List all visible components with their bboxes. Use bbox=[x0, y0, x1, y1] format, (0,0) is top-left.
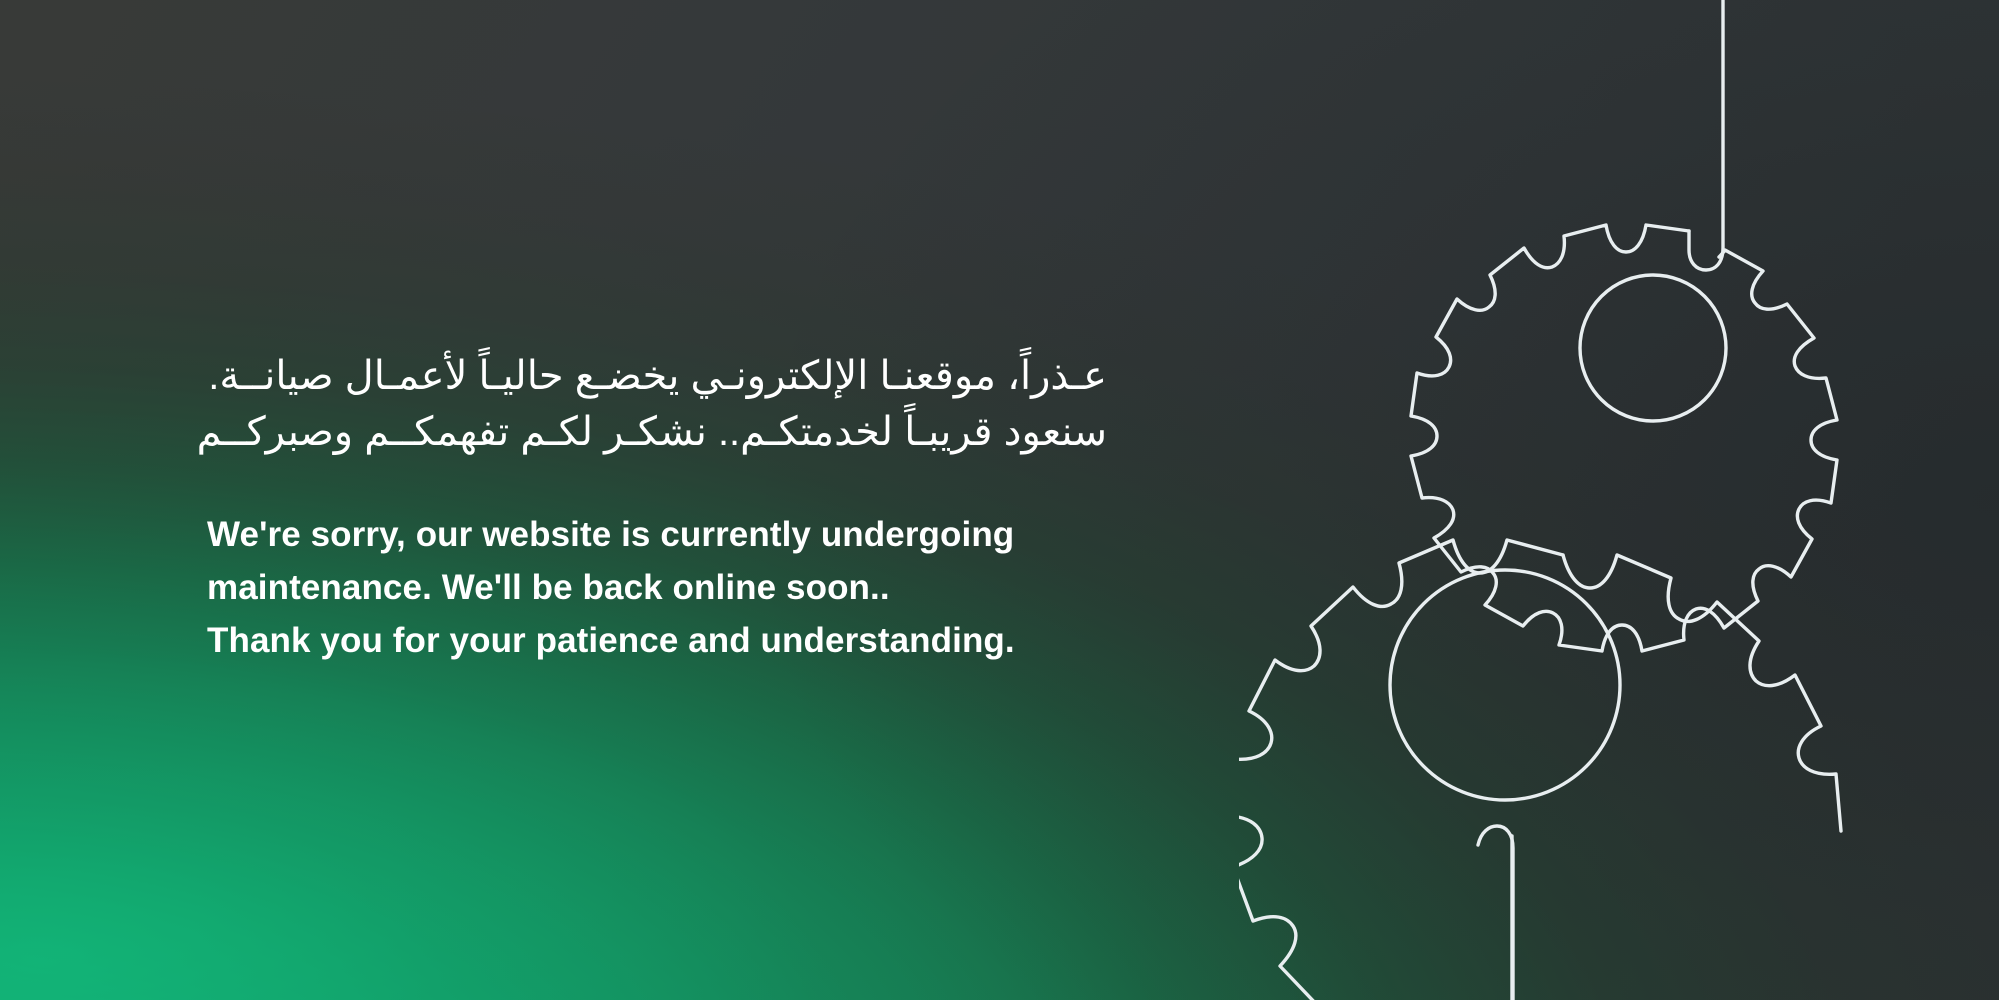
arabic-line-2: سنعود قريبـاً لخدمتكـم.. نشكـر لكـم تفهم… bbox=[207, 404, 1107, 460]
arabic-message: عـذراً، موقعنـا الإلكترونـي يخضـع حاليـا… bbox=[207, 348, 1107, 460]
english-line-1: We're sorry, our website is currently un… bbox=[207, 508, 1207, 561]
maintenance-page: عـذراً، موقعنـا الإلكترونـي يخضـع حاليـا… bbox=[0, 0, 1999, 1000]
english-message: We're sorry, our website is currently un… bbox=[207, 508, 1207, 667]
english-line-3: Thank you for your patience and understa… bbox=[207, 614, 1207, 667]
arabic-line-1: عـذراً، موقعنـا الإلكترونـي يخضـع حاليـا… bbox=[207, 348, 1107, 404]
maintenance-message: عـذراً، موقعنـا الإلكترونـي يخضـع حاليـا… bbox=[207, 348, 1207, 667]
english-line-2: maintenance. We'll be back online soon.. bbox=[207, 561, 1207, 614]
